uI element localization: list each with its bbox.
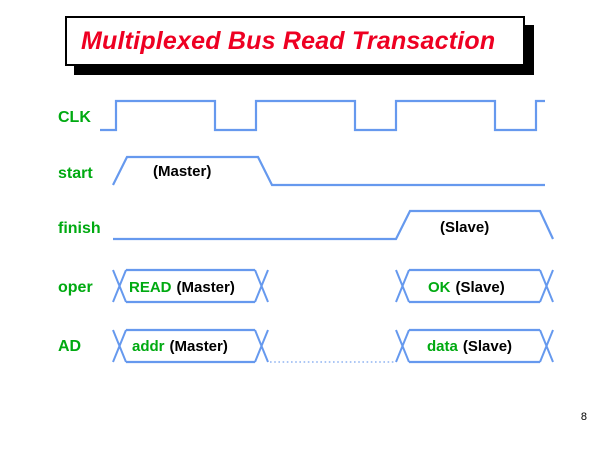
signal-row-clk: CLK (58, 101, 545, 130)
bus-cell-text: data(Slave) (427, 338, 512, 355)
bus-cell-value: READ (129, 279, 172, 296)
signal-row-finish: finish (Slave) (58, 211, 553, 239)
signal-label-finish: finish (58, 220, 101, 237)
bus-cell-source: (Master) (170, 338, 228, 355)
signal-label-clk: CLK (58, 109, 91, 126)
bus-cell-text: OK(Slave) (428, 279, 505, 296)
bus-cell-oper-ok: OK(Slave) (396, 270, 553, 302)
signal-row-oper: oper READ(Master) OK(Slave) (58, 270, 553, 302)
bus-cell-ad-addr: addr(Master) (113, 330, 268, 362)
bus-cell-text: addr(Master) (132, 338, 228, 355)
bus-cell-source: (Slave) (456, 279, 505, 296)
bus-transition-right-icon (255, 270, 268, 302)
bus-transition-left-icon (396, 270, 409, 302)
signal-label-ad: AD (58, 338, 81, 355)
bus-transition-left-icon (113, 270, 126, 302)
bus-transition-right-icon (540, 330, 553, 362)
bus-transition-right-icon (540, 270, 553, 302)
bus-cell-oper-read: READ(Master) (113, 270, 268, 302)
page-number: 8 (581, 411, 587, 423)
signal-label-oper: oper (58, 279, 93, 296)
bus-cell-text: READ(Master) (129, 279, 235, 296)
annotation-finish-slave: (Slave) (440, 219, 489, 236)
timing-diagram: CLK start (Master) finish (Slave) oper R… (0, 0, 600, 450)
bus-cell-source: (Slave) (463, 338, 512, 355)
bus-transition-left-icon (113, 330, 126, 362)
waveform-clk (100, 101, 545, 130)
bus-transition-left-icon (396, 330, 409, 362)
bus-cell-value: addr (132, 338, 165, 355)
bus-cell-ad-data: data(Slave) (396, 330, 553, 362)
signal-row-start: start (Master) (58, 157, 545, 185)
signal-row-ad: AD addr(Master) data(Slave) (58, 330, 553, 362)
annotation-start-master: (Master) (153, 163, 211, 180)
signal-label-start: start (58, 165, 93, 182)
bus-transition-right-icon (255, 330, 268, 362)
bus-cell-value: OK (428, 279, 451, 296)
bus-cell-value: data (427, 338, 459, 355)
bus-cell-source: (Master) (177, 279, 235, 296)
